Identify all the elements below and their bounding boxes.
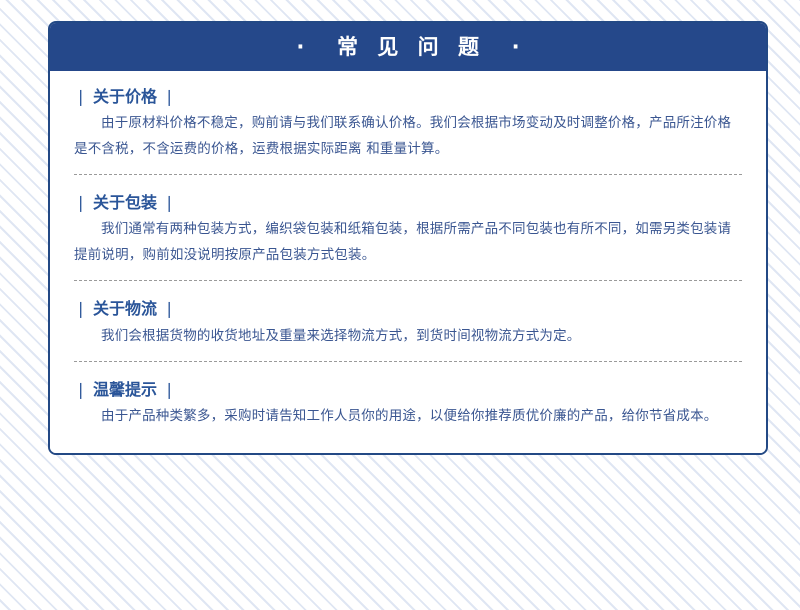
faq-section-heading-price: ❘ 关于价格 ❘	[74, 87, 742, 106]
faq-section-logistics: ❘ 关于物流 ❘ 我们会根据货物的收货地址及重量来选择物流方式，到货时间视物流方…	[74, 281, 742, 360]
faq-section-text-tips: 由于产品种类繁多，采购时请告知工作人员你的用途，以便给你推荐质优价廉的产品，给你…	[74, 403, 742, 431]
faq-card: · 常 见 问 题 · ❘ 关于价格 ❘ 由于原材料价格不稳定，购前请与我们联系…	[48, 21, 768, 455]
faq-section-text-packaging: 我们通常有两种包装方式，编织袋包装和纸箱包装，根据所需产品不同包装也有所不同，如…	[74, 216, 742, 280]
faq-section-packaging: ❘ 关于包装 ❘ 我们通常有两种包装方式，编织袋包装和纸箱包装，根据所需产品不同…	[74, 175, 742, 280]
faq-section-text-logistics: 我们会根据货物的收货地址及重量来选择物流方式，到货时间视物流方式为定。	[74, 323, 742, 361]
faq-section-tips: ❘ 温馨提示 ❘ 由于产品种类繁多，采购时请告知工作人员你的用途，以便给你推荐质…	[74, 362, 742, 431]
faq-section-heading-tips: ❘ 温馨提示 ❘	[74, 380, 742, 399]
page-title: · 常 见 问 题 ·	[290, 37, 525, 58]
faq-section-price: ❘ 关于价格 ❘ 由于原材料价格不稳定，购前请与我们联系确认价格。我们会根据市场…	[74, 71, 742, 174]
faq-header-banner: · 常 见 问 题 ·	[50, 23, 766, 71]
faq-page: · 常 见 问 题 · ❘ 关于价格 ❘ 由于原材料价格不稳定，购前请与我们联系…	[0, 0, 800, 610]
faq-section-heading-logistics: ❘ 关于物流 ❘	[74, 299, 742, 318]
faq-section-text-price: 由于原材料价格不稳定，购前请与我们联系确认价格。我们会根据市场变动及时调整价格，…	[74, 110, 742, 174]
faq-section-heading-packaging: ❘ 关于包装 ❘	[74, 193, 742, 212]
faq-body: ❘ 关于价格 ❘ 由于原材料价格不稳定，购前请与我们联系确认价格。我们会根据市场…	[50, 71, 766, 453]
